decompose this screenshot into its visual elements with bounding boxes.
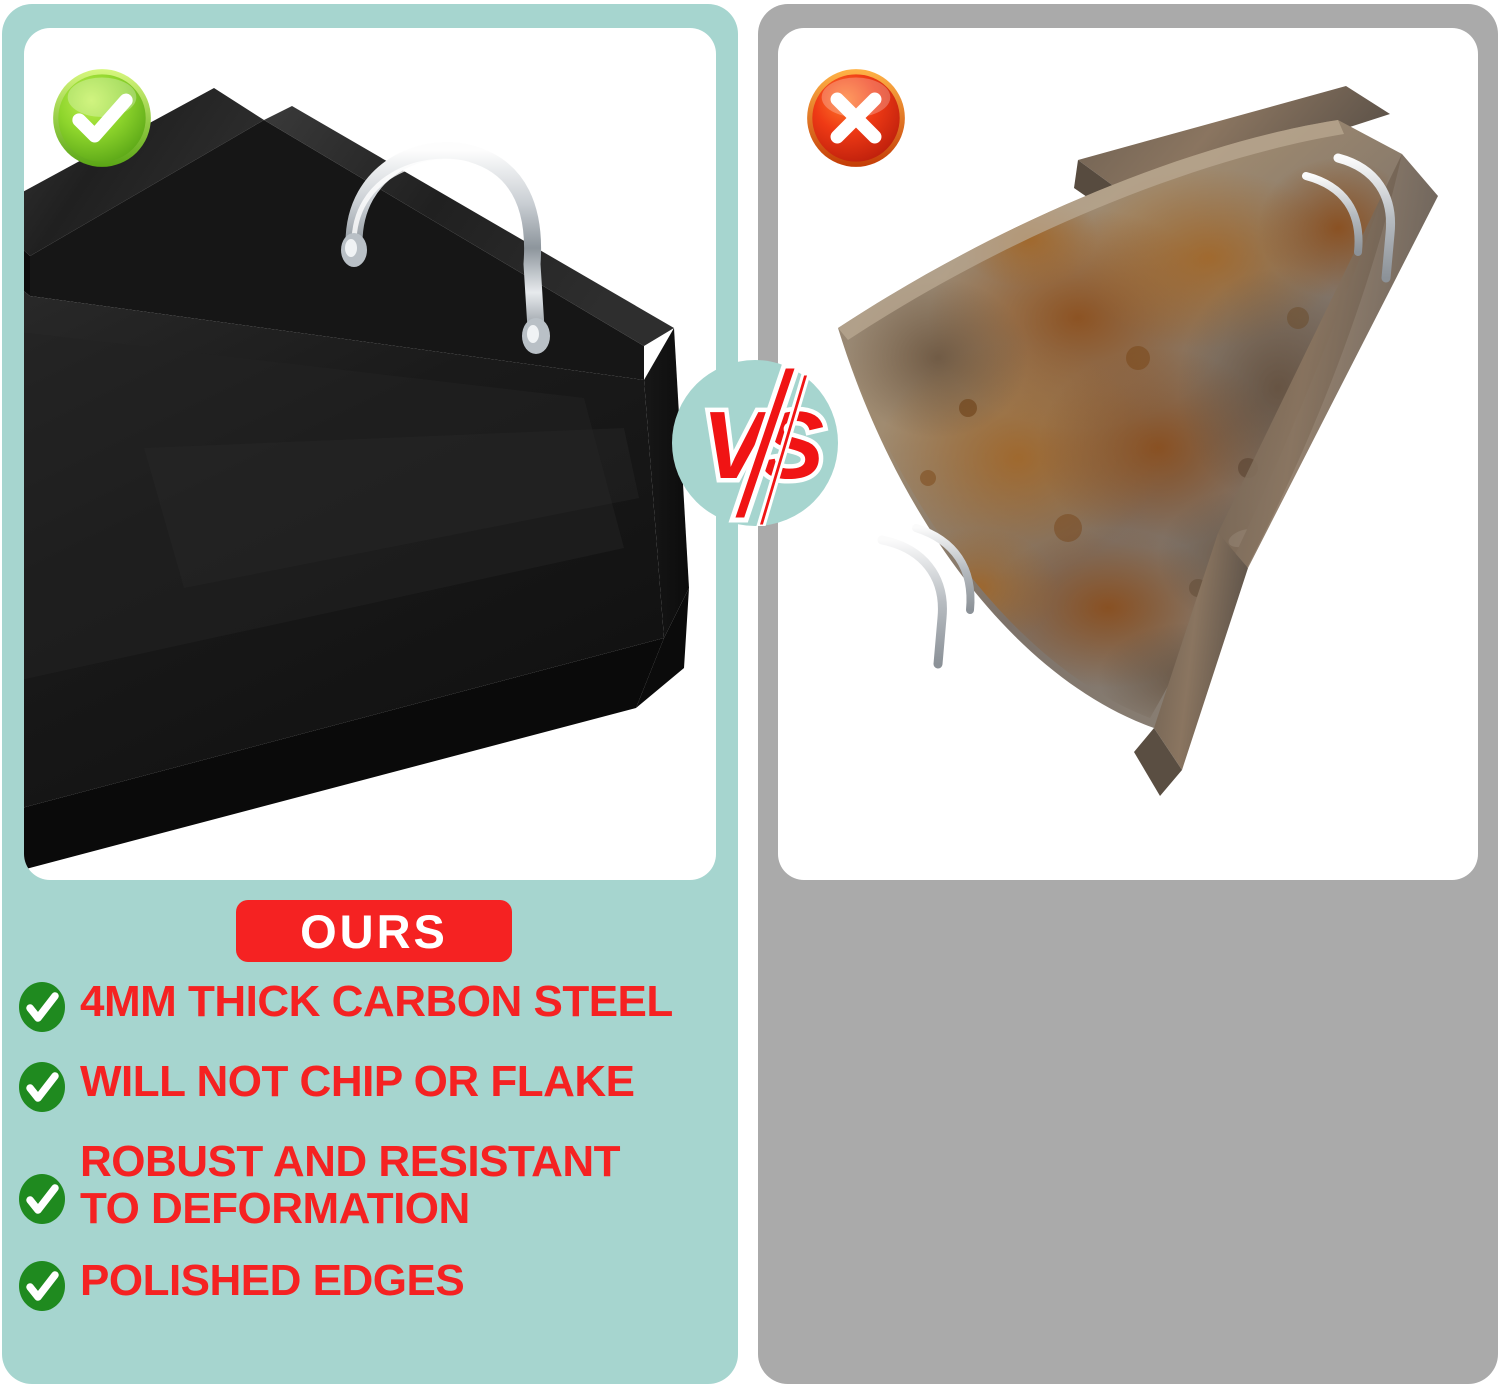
check-icon [18, 981, 66, 1033]
ours-panel: OURS 4MM THICK CARBON STEEL [2, 4, 738, 1384]
check-icon [18, 1061, 66, 1113]
ours-feature-label: 4MM THICK CARBON STEEL [80, 979, 673, 1026]
check-icon [18, 1173, 66, 1225]
check-icon [18, 1260, 66, 1312]
comparison-infographic: OURS 4MM THICK CARBON STEEL [0, 0, 1500, 1388]
others-panel: OTHERS Thinner and lighter materials [758, 4, 1498, 1384]
ours-product-photo-card [24, 28, 716, 880]
ours-feature-item: 4MM THICK CARBON STEEL [18, 979, 730, 1033]
ours-feature-label: POLISHED EDGES [80, 1258, 464, 1305]
ours-feature-item: ROBUST AND RESISTANT TO DEFORMATION [18, 1139, 730, 1232]
ours-feature-label: WILL NOT CHIP OR FLAKE [80, 1059, 634, 1106]
ours-feature-item: POLISHED EDGES [18, 1258, 730, 1312]
ours-feature-list: 4MM THICK CARBON STEEL WILL NOT CHIP OR … [18, 979, 730, 1338]
others-product-photo-card [778, 28, 1478, 880]
others-status-badge [804, 66, 908, 170]
ours-feature-item: WILL NOT CHIP OR FLAKE [18, 1059, 730, 1113]
ours-status-badge [50, 66, 154, 170]
vs-badge: VS [672, 360, 838, 526]
ours-feature-label: ROBUST AND RESISTANT TO DEFORMATION [80, 1139, 620, 1232]
ours-label-pill: OURS [236, 900, 512, 962]
